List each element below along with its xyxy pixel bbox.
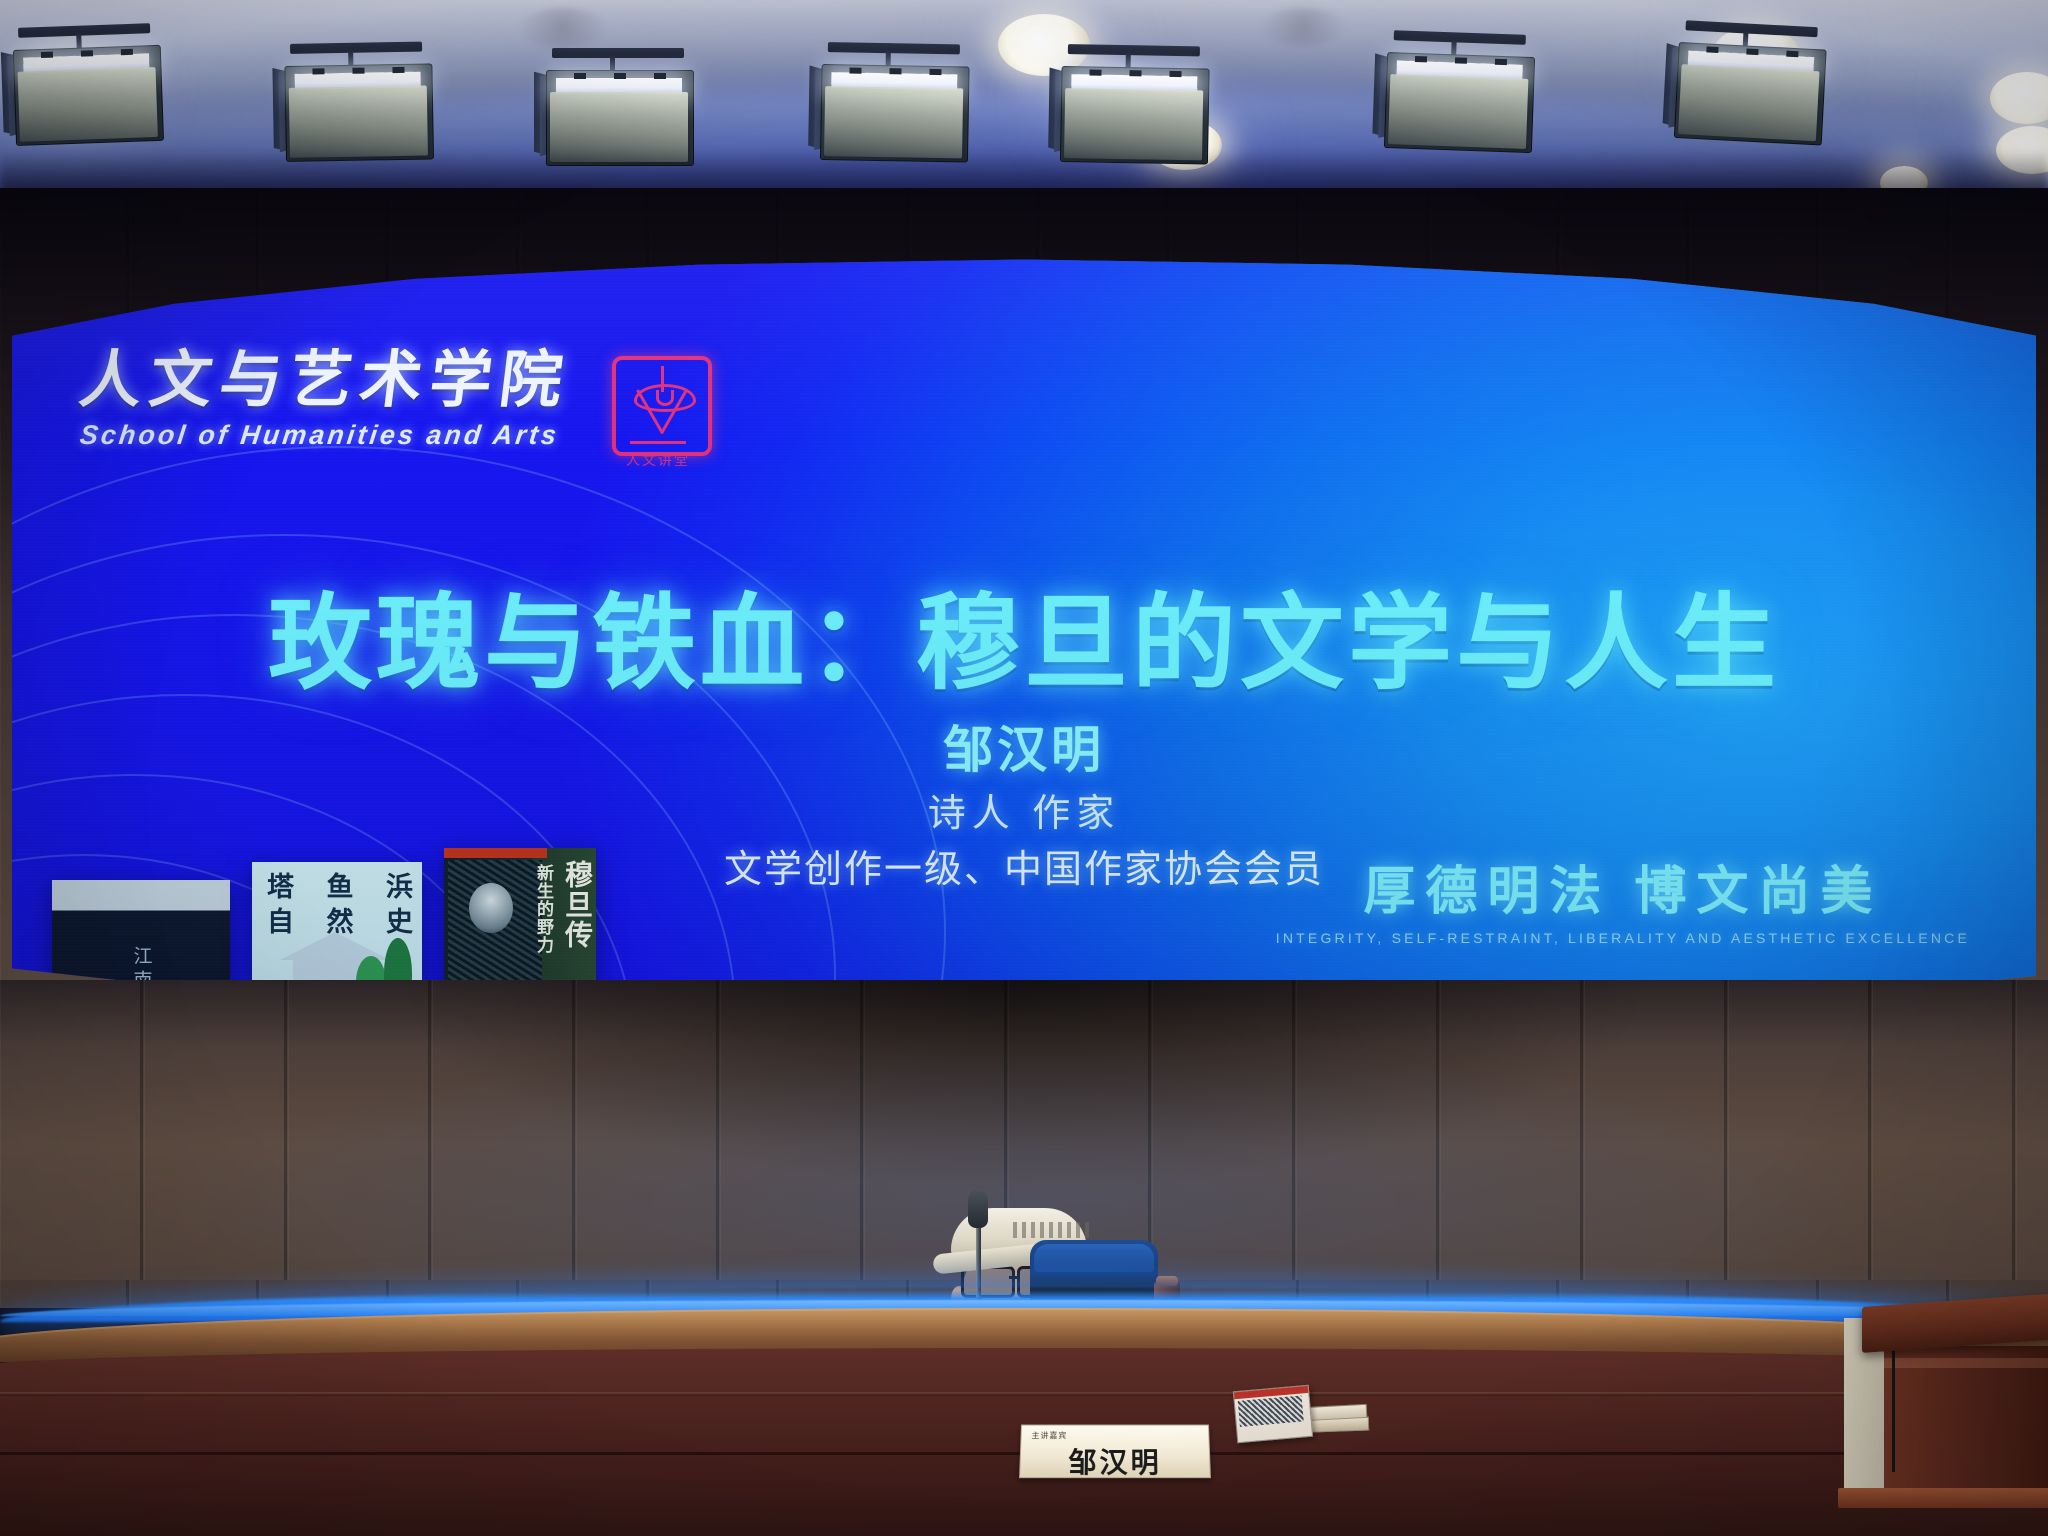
slide-speaker-role: 诗人 作家 xyxy=(12,782,2036,837)
school-logo-en: School of Humanities and Arts xyxy=(78,420,572,451)
slide-speaker-name: 邹汉明 xyxy=(12,710,2036,782)
motto-en: INTEGRITY, SELF-RESTRAINT, LIBERALITY AN… xyxy=(1276,930,1970,946)
book-subtitle: 新生的野力 xyxy=(534,864,552,954)
lectern xyxy=(1848,1300,2048,1536)
book-title: 穆旦传 xyxy=(562,860,590,950)
desk-seam xyxy=(0,1392,2048,1396)
led-presentation-screen[interactable]: 人文与艺术学院 School of Humanities and Arts 人文… xyxy=(12,258,2036,998)
book-stack xyxy=(1235,1388,1367,1444)
school-logo-cn: 人文与艺术学院 xyxy=(76,350,574,412)
humanities-seal-emblem-icon xyxy=(612,356,712,456)
downlight-icon xyxy=(1262,8,1344,46)
school-logo: 人文与艺术学院 School of Humanities and Arts 人文… xyxy=(80,350,712,456)
lecture-hall-photo: 人文与艺术学院 School of Humanities and Arts 人文… xyxy=(0,0,2048,1536)
nameplate-name: 邹汉明 xyxy=(1020,1441,1210,1481)
emblem-caption: 人文讲堂 xyxy=(610,450,706,470)
downlight-icon xyxy=(520,8,606,48)
motto-cn: 厚德明法 博文尚美 xyxy=(1276,849,1970,924)
slide-title: 玫瑰与铁血：穆旦的文学与人生 xyxy=(12,558,2036,709)
university-motto: 厚德明法 博文尚美 INTEGRITY, SELF-RESTRAINT, LIB… xyxy=(1276,849,1970,946)
nameplate-label: 主讲嘉宾 xyxy=(1031,1430,1067,1441)
nameplate: 主讲嘉宾 邹汉明 xyxy=(1020,1424,1208,1482)
